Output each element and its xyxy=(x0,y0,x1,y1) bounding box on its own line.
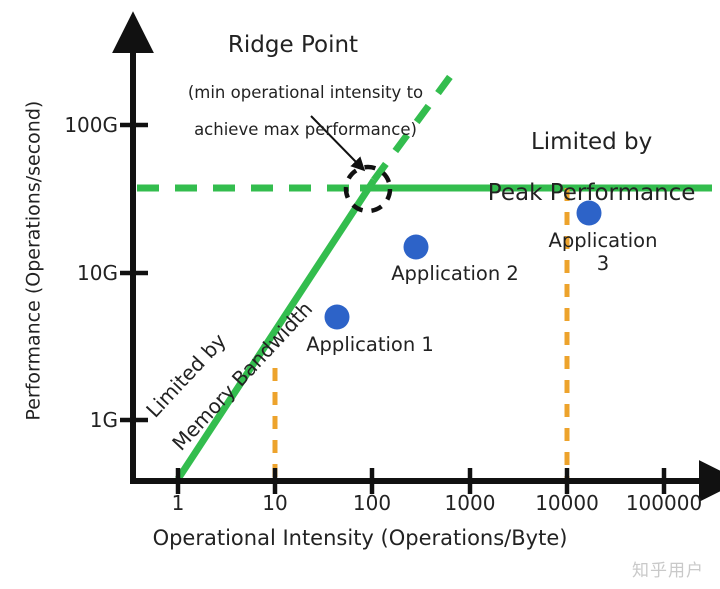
marker-label-application-1: Application 1 xyxy=(306,333,434,356)
roofline-chart: Operational Intensity (Operations/Byte) … xyxy=(0,0,720,589)
x-tick-label-100: 100 xyxy=(353,491,391,515)
peak-performance-line-1: Limited by xyxy=(531,129,652,155)
watermark: 知乎用户 xyxy=(632,556,704,581)
ridge-point-subtitle-line-2: achieve max performance) xyxy=(194,120,417,139)
ridge-point-subtitle-line-1: (min operational intensity to xyxy=(188,83,423,102)
y-tick-label-10g: 10G xyxy=(40,261,118,285)
marker-application-2[interactable] xyxy=(404,235,429,260)
x-tick-label-1: 1 xyxy=(172,491,185,515)
marker-label-application-3: Application 3 xyxy=(545,229,662,275)
x-tick-label-100000: 100000 xyxy=(626,491,702,515)
ridge-point-subtitle: (min operational intensity to achieve ma… xyxy=(135,66,455,158)
x-axis-title: Operational Intensity (Operations/Byte) xyxy=(0,527,720,551)
x-tick-label-1000: 1000 xyxy=(445,491,496,515)
marker-application-1[interactable] xyxy=(325,305,350,330)
y-tick-label-1g: 1G xyxy=(40,408,118,432)
marker-label-application-2: Application 2 xyxy=(391,262,519,285)
x-tick-label-10000: 10000 xyxy=(535,491,599,515)
y-tick-label-100g: 100G xyxy=(40,113,118,137)
peak-performance-line-2: Peak Performance xyxy=(488,180,696,206)
peak-performance-region-label: Limited by Peak Performance xyxy=(452,104,702,233)
x-tick-label-10: 10 xyxy=(262,491,287,515)
ridge-point-title: Ridge Point xyxy=(148,33,438,59)
